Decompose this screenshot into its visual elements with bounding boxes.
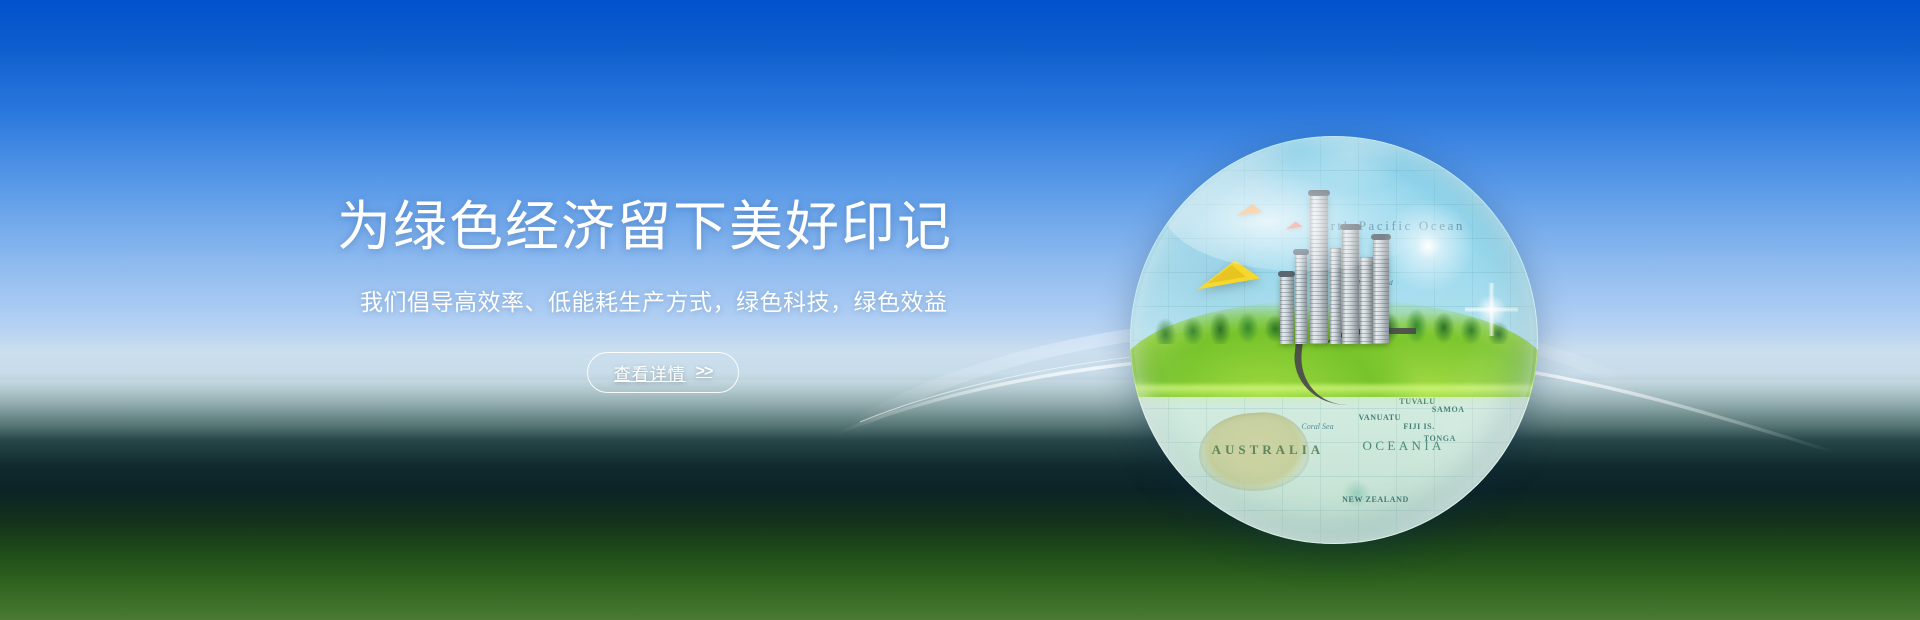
building xyxy=(1330,248,1341,344)
building-tallest xyxy=(1310,195,1328,344)
cta-row: 查看详情 >> xyxy=(337,352,989,393)
hero-banner: 为绿色经济留下美好印记 我们倡导高效率、低能耗生产方式，绿色科技，绿色效益 查看… xyxy=(0,0,1920,620)
horizon-glow xyxy=(0,380,1920,470)
globe-illustration: North Pacific Ocean AUSTRALIA OCEANIA PA… xyxy=(1130,122,1540,556)
glass-globe: North Pacific Ocean AUSTRALIA OCEANIA PA… xyxy=(1130,136,1538,544)
building-cap xyxy=(1278,271,1295,277)
chevron-right-icon: >> xyxy=(696,363,713,381)
view-details-button[interactable]: 查看详情 >> xyxy=(587,352,740,393)
hero-subheadline: 我们倡导高效率、低能耗生产方式，绿色科技，绿色效益 xyxy=(360,286,997,318)
building xyxy=(1360,257,1372,344)
building-cap xyxy=(1340,224,1361,230)
cta-label: 查看详情 xyxy=(614,360,686,385)
building-cap xyxy=(1371,234,1392,240)
building-cap xyxy=(1308,190,1330,196)
building-cap xyxy=(1293,249,1308,255)
building xyxy=(1373,239,1390,344)
hero-text-block: 为绿色经济留下美好印记 我们倡导高效率、低能耗生产方式，绿色科技，绿色效益 查看… xyxy=(337,196,997,393)
hero-headline: 为绿色经济留下美好印记 xyxy=(337,196,997,260)
building xyxy=(1295,254,1307,344)
building xyxy=(1280,276,1294,344)
city-skyline xyxy=(1277,189,1416,344)
building xyxy=(1342,229,1359,344)
